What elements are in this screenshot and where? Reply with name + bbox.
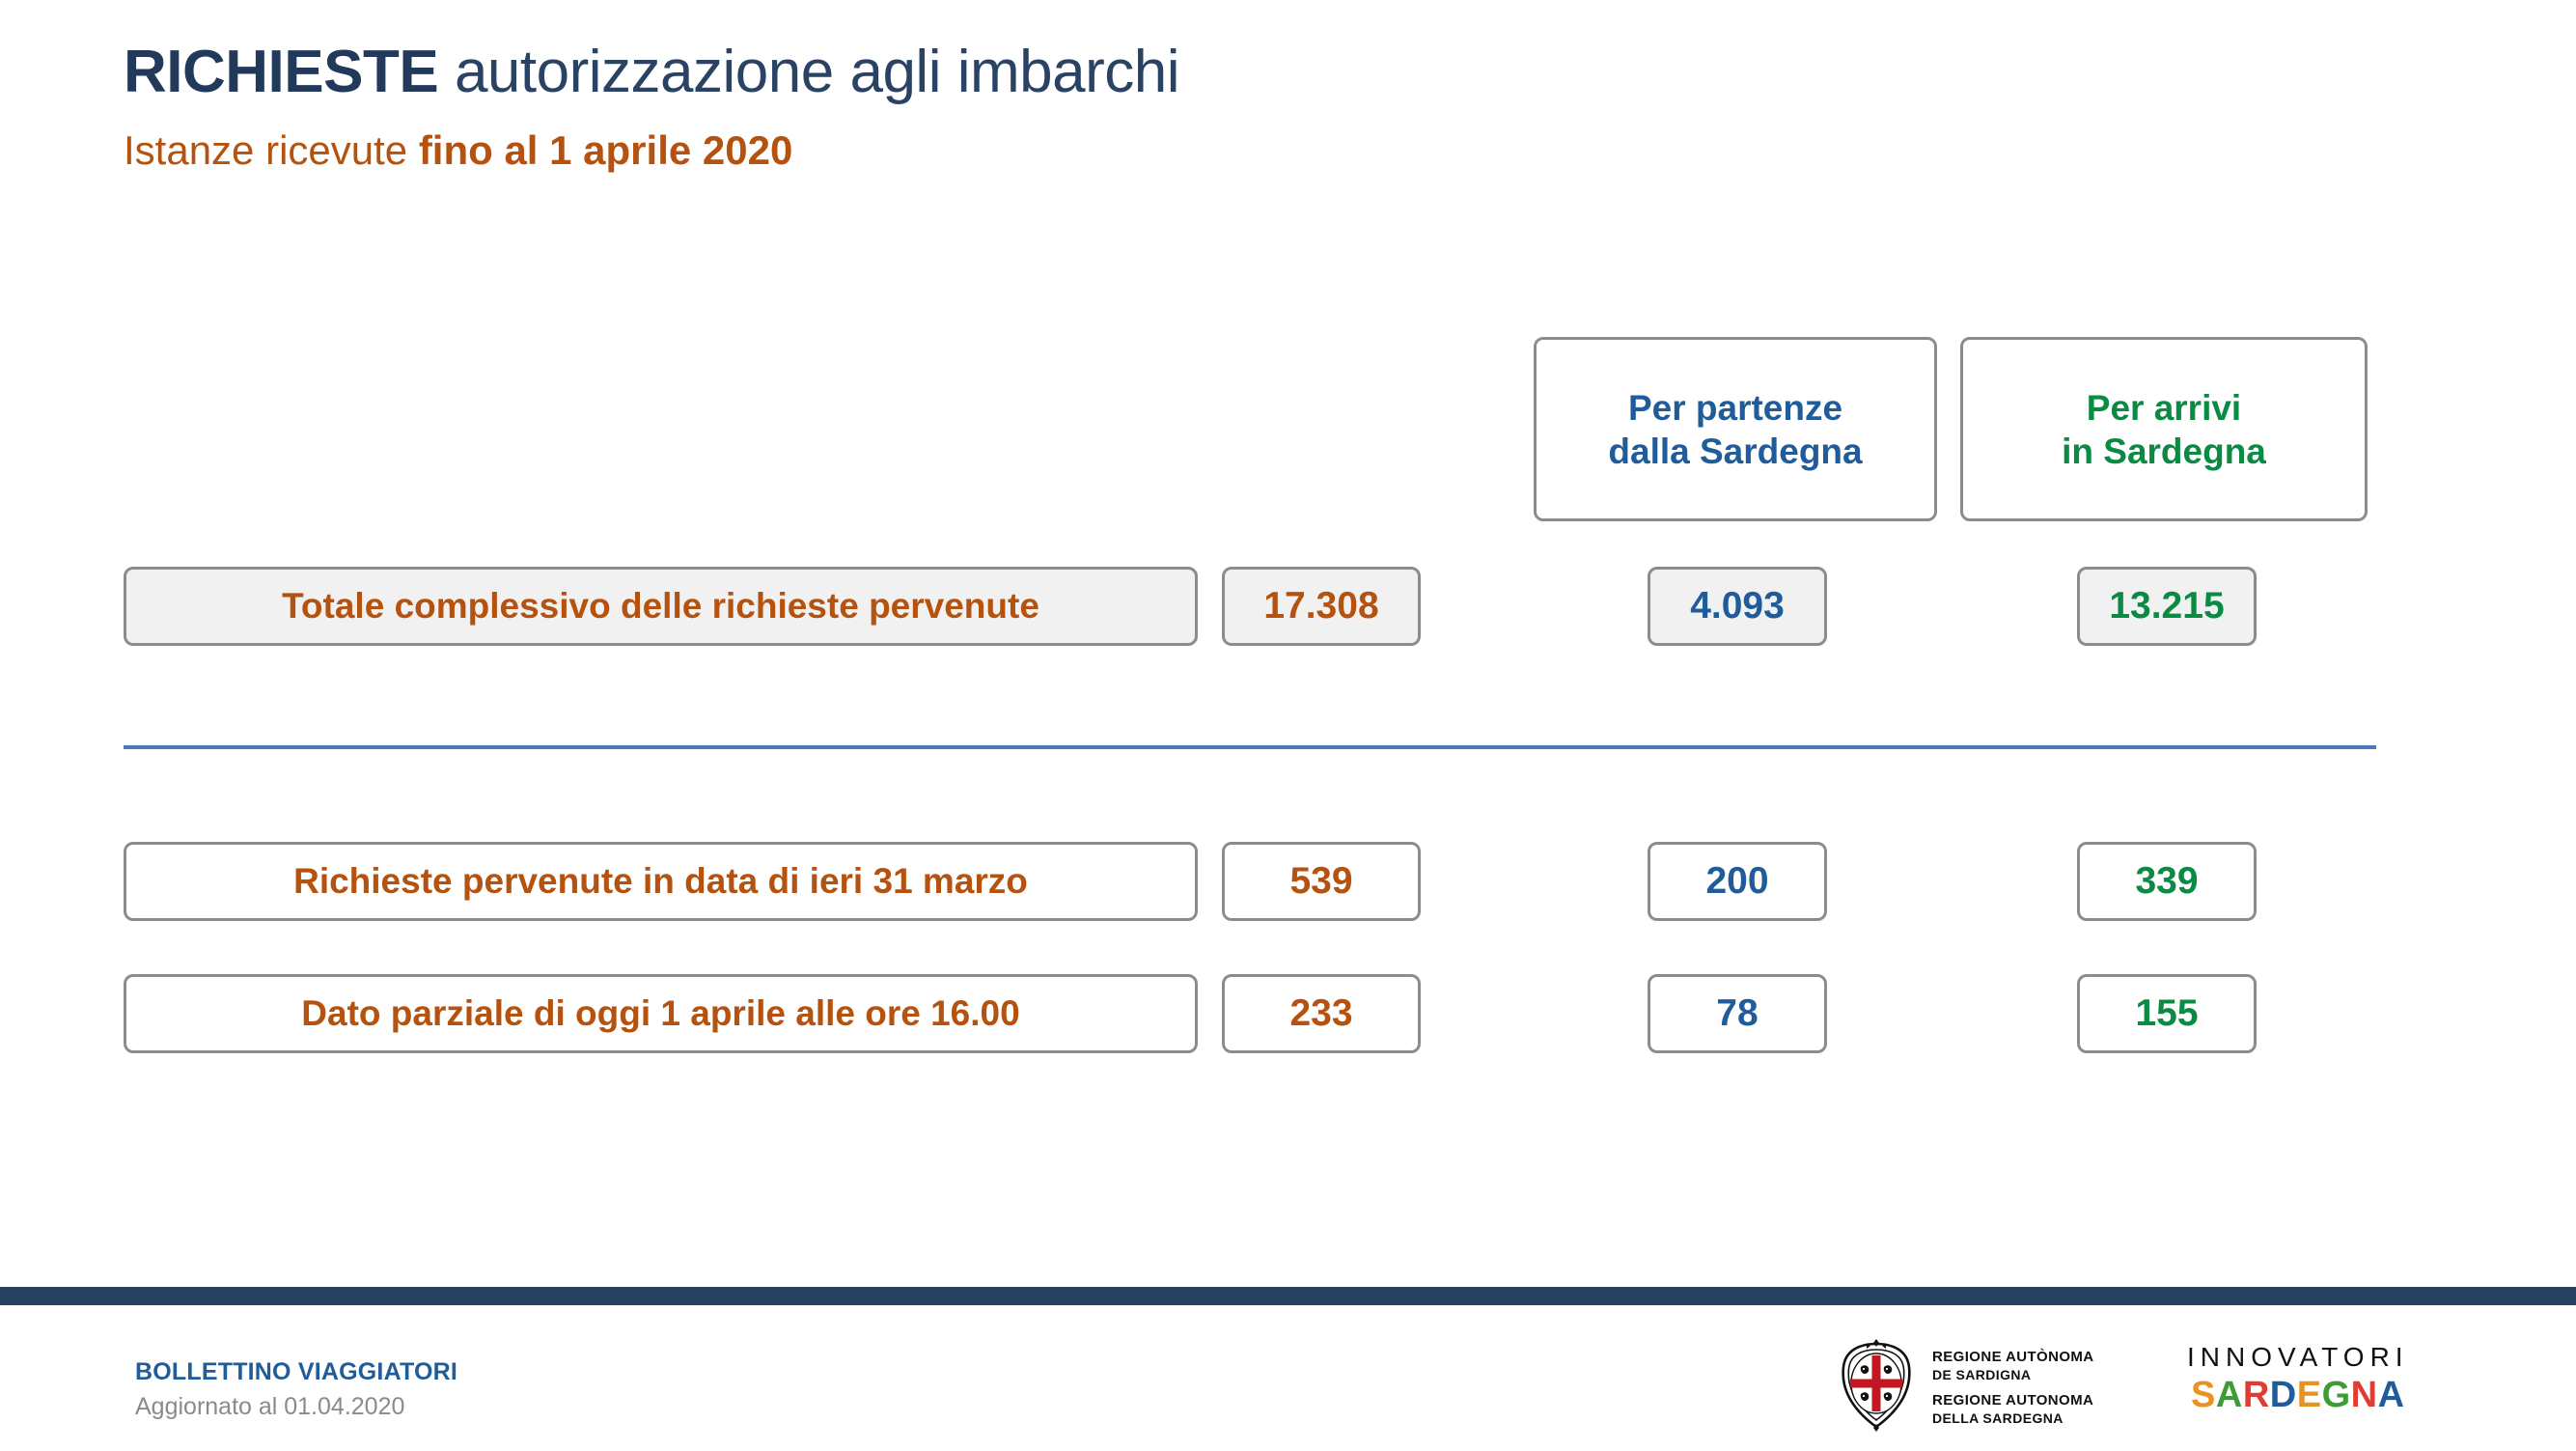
- sardegna-letter: E: [2297, 1376, 2322, 1414]
- table-row-label-today: Dato parziale di oggi 1 aprile alle ore …: [124, 974, 1198, 1053]
- footer-accent-bar: [0, 1287, 2576, 1305]
- column-header-departures: Per partenze dalla Sardegna: [1534, 337, 1937, 521]
- table-cell-today-overall: 233: [1222, 974, 1421, 1053]
- bulletin-updated-date: Aggiornato al 01.04.2020: [135, 1393, 457, 1421]
- row-label-text: Totale complessivo delle richieste perve…: [282, 586, 1039, 627]
- sardinia-coat-of-arms-icon: [1832, 1338, 1921, 1437]
- footer-bulletin-block: BOLLETTINO VIAGGIATORI Aggiornato al 01.…: [135, 1358, 457, 1421]
- cell-value: 155: [2135, 992, 2198, 1035]
- column-header-arrivals-line1: Per arrivi: [2087, 388, 2241, 428]
- sardegna-letter: N: [2351, 1376, 2378, 1414]
- table-cell-today-departures: 78: [1648, 974, 1827, 1053]
- column-header-departures-line2: dalla Sardegna: [1608, 432, 1862, 471]
- sardegna-letter: D: [2270, 1376, 2297, 1414]
- column-header-departures-line1: Per partenze: [1628, 388, 1842, 428]
- sardegna-letter: R: [2243, 1376, 2270, 1414]
- regione-line-italiano-2: DELLA SARDEGNA: [1932, 1409, 2094, 1428]
- regione-sardegna-logo: REGIONE AUTÒNOMA DE SARDIGNA REGIONE AUT…: [1832, 1338, 2094, 1437]
- cell-value: 200: [1705, 860, 1768, 903]
- row-label-text: Dato parziale di oggi 1 aprile alle ore …: [301, 993, 1019, 1034]
- cell-value: 13.215: [2109, 585, 2224, 628]
- table-cell-total-departures: 4.093: [1648, 567, 1827, 646]
- cell-value: 233: [1289, 992, 1352, 1035]
- sardegna-letter: G: [2322, 1376, 2351, 1414]
- cell-value: 539: [1289, 860, 1352, 903]
- column-header-arrivals-line2: in Sardegna: [2062, 432, 2266, 471]
- cell-value: 4.093: [1690, 585, 1785, 628]
- cell-value: 17.308: [1263, 585, 1378, 628]
- table-cell-yesterday-departures: 200: [1648, 842, 1827, 921]
- sardegna-letter: A: [2216, 1376, 2243, 1414]
- innovatori-sardegna-logo: INNOVATORI SARDEGNA: [2187, 1342, 2409, 1414]
- table-cell-total-overall: 17.308: [1222, 567, 1421, 646]
- section-divider: [124, 745, 2376, 749]
- column-header-arrivals-text: Per arrivi in Sardegna: [2062, 386, 2266, 473]
- regione-logo-text: REGIONE AUTÒNOMA DE SARDIGNA REGIONE AUT…: [1932, 1348, 2094, 1428]
- sardegna-wordmark: SARDEGNA: [2187, 1376, 2409, 1414]
- column-header-arrivals: Per arrivi in Sardegna: [1960, 337, 2368, 521]
- regione-line-sardo-1: REGIONE AUTÒNOMA: [1932, 1348, 2094, 1366]
- regione-line-sardo-2: DE SARDIGNA: [1932, 1366, 2094, 1384]
- table-cell-total-arrivals: 13.215: [2077, 567, 2257, 646]
- table-row-label-total: Totale complessivo delle richieste perve…: [124, 567, 1198, 646]
- table-row-label-yesterday: Richieste pervenute in data di ieri 31 m…: [124, 842, 1198, 921]
- column-header-departures-text: Per partenze dalla Sardegna: [1608, 386, 1862, 473]
- bulletin-title: BOLLETTINO VIAGGIATORI: [135, 1358, 457, 1386]
- innovatori-wordmark: INNOVATORI: [2187, 1342, 2409, 1373]
- data-table: Per partenze dalla Sardegna Per arrivi i…: [0, 0, 2576, 1216]
- table-cell-today-arrivals: 155: [2077, 974, 2257, 1053]
- cell-value: 78: [1716, 992, 1758, 1035]
- sardegna-letter: S: [2191, 1376, 2216, 1414]
- cell-value: 339: [2135, 860, 2198, 903]
- table-cell-yesterday-overall: 539: [1222, 842, 1421, 921]
- table-cell-yesterday-arrivals: 339: [2077, 842, 2257, 921]
- sardegna-letter: A: [2378, 1376, 2405, 1414]
- regione-line-italiano-1: REGIONE AUTONOMA: [1932, 1391, 2094, 1409]
- row-label-text: Richieste pervenute in data di ieri 31 m…: [293, 861, 1028, 902]
